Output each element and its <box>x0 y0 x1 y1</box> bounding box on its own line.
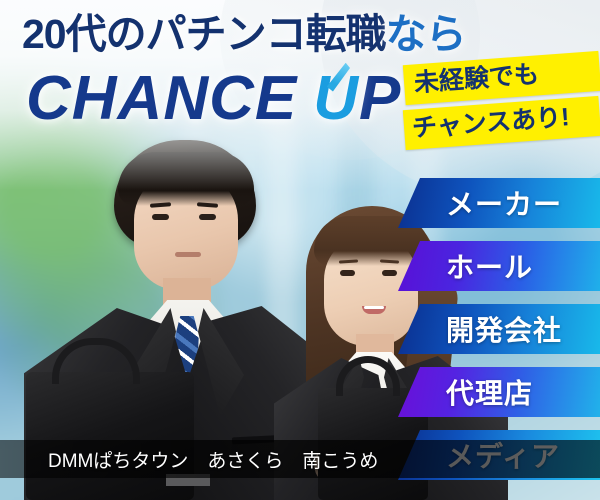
briefcase-left <box>26 372 194 500</box>
logo-letter-u-text: U <box>313 64 359 133</box>
female-teeth <box>364 306 384 309</box>
category-button-hall[interactable]: ホール <box>398 241 600 291</box>
caption-bar: DMMぱちタウン あさくら 南こうめ <box>0 440 600 478</box>
category-button-maker[interactable]: メーカー <box>398 178 600 228</box>
caption-text: DMMぱちタウン あさくら 南こうめ <box>48 446 378 473</box>
male-eye-right <box>199 214 216 220</box>
female-eye-right <box>382 270 397 276</box>
headline-main-text: 20代のパチンコ転職 <box>22 11 386 57</box>
category-label: 開発会社 <box>446 309 562 349</box>
headline: 20代のパチンコ転職なら <box>22 14 466 55</box>
logo-letter-u: U <box>313 68 359 130</box>
category-button-developer[interactable]: 開発会社 <box>398 304 600 354</box>
recruitment-banner: 20代のパチンコ転職なら CHANCEUP 未経験でも チャンスあり! メーカー… <box>0 0 600 500</box>
category-label: メーカー <box>446 183 562 223</box>
category-label: 代理店 <box>446 372 533 412</box>
female-eye-left <box>340 270 355 276</box>
headline-suffix-text: なら <box>386 11 466 57</box>
logo-letter-p: P <box>359 64 401 133</box>
logo-word-chance: CHANCE <box>26 64 297 133</box>
chance-up-logo: CHANCEUP <box>26 68 401 130</box>
highlight-badge: 未経験でも チャンスあり! <box>404 58 600 143</box>
male-eye-left <box>152 214 169 220</box>
category-label: ホール <box>446 246 533 286</box>
category-button-agency[interactable]: 代理店 <box>398 367 600 417</box>
male-mouth <box>175 252 201 257</box>
badge-line-2: チャンスあり! <box>403 96 600 150</box>
